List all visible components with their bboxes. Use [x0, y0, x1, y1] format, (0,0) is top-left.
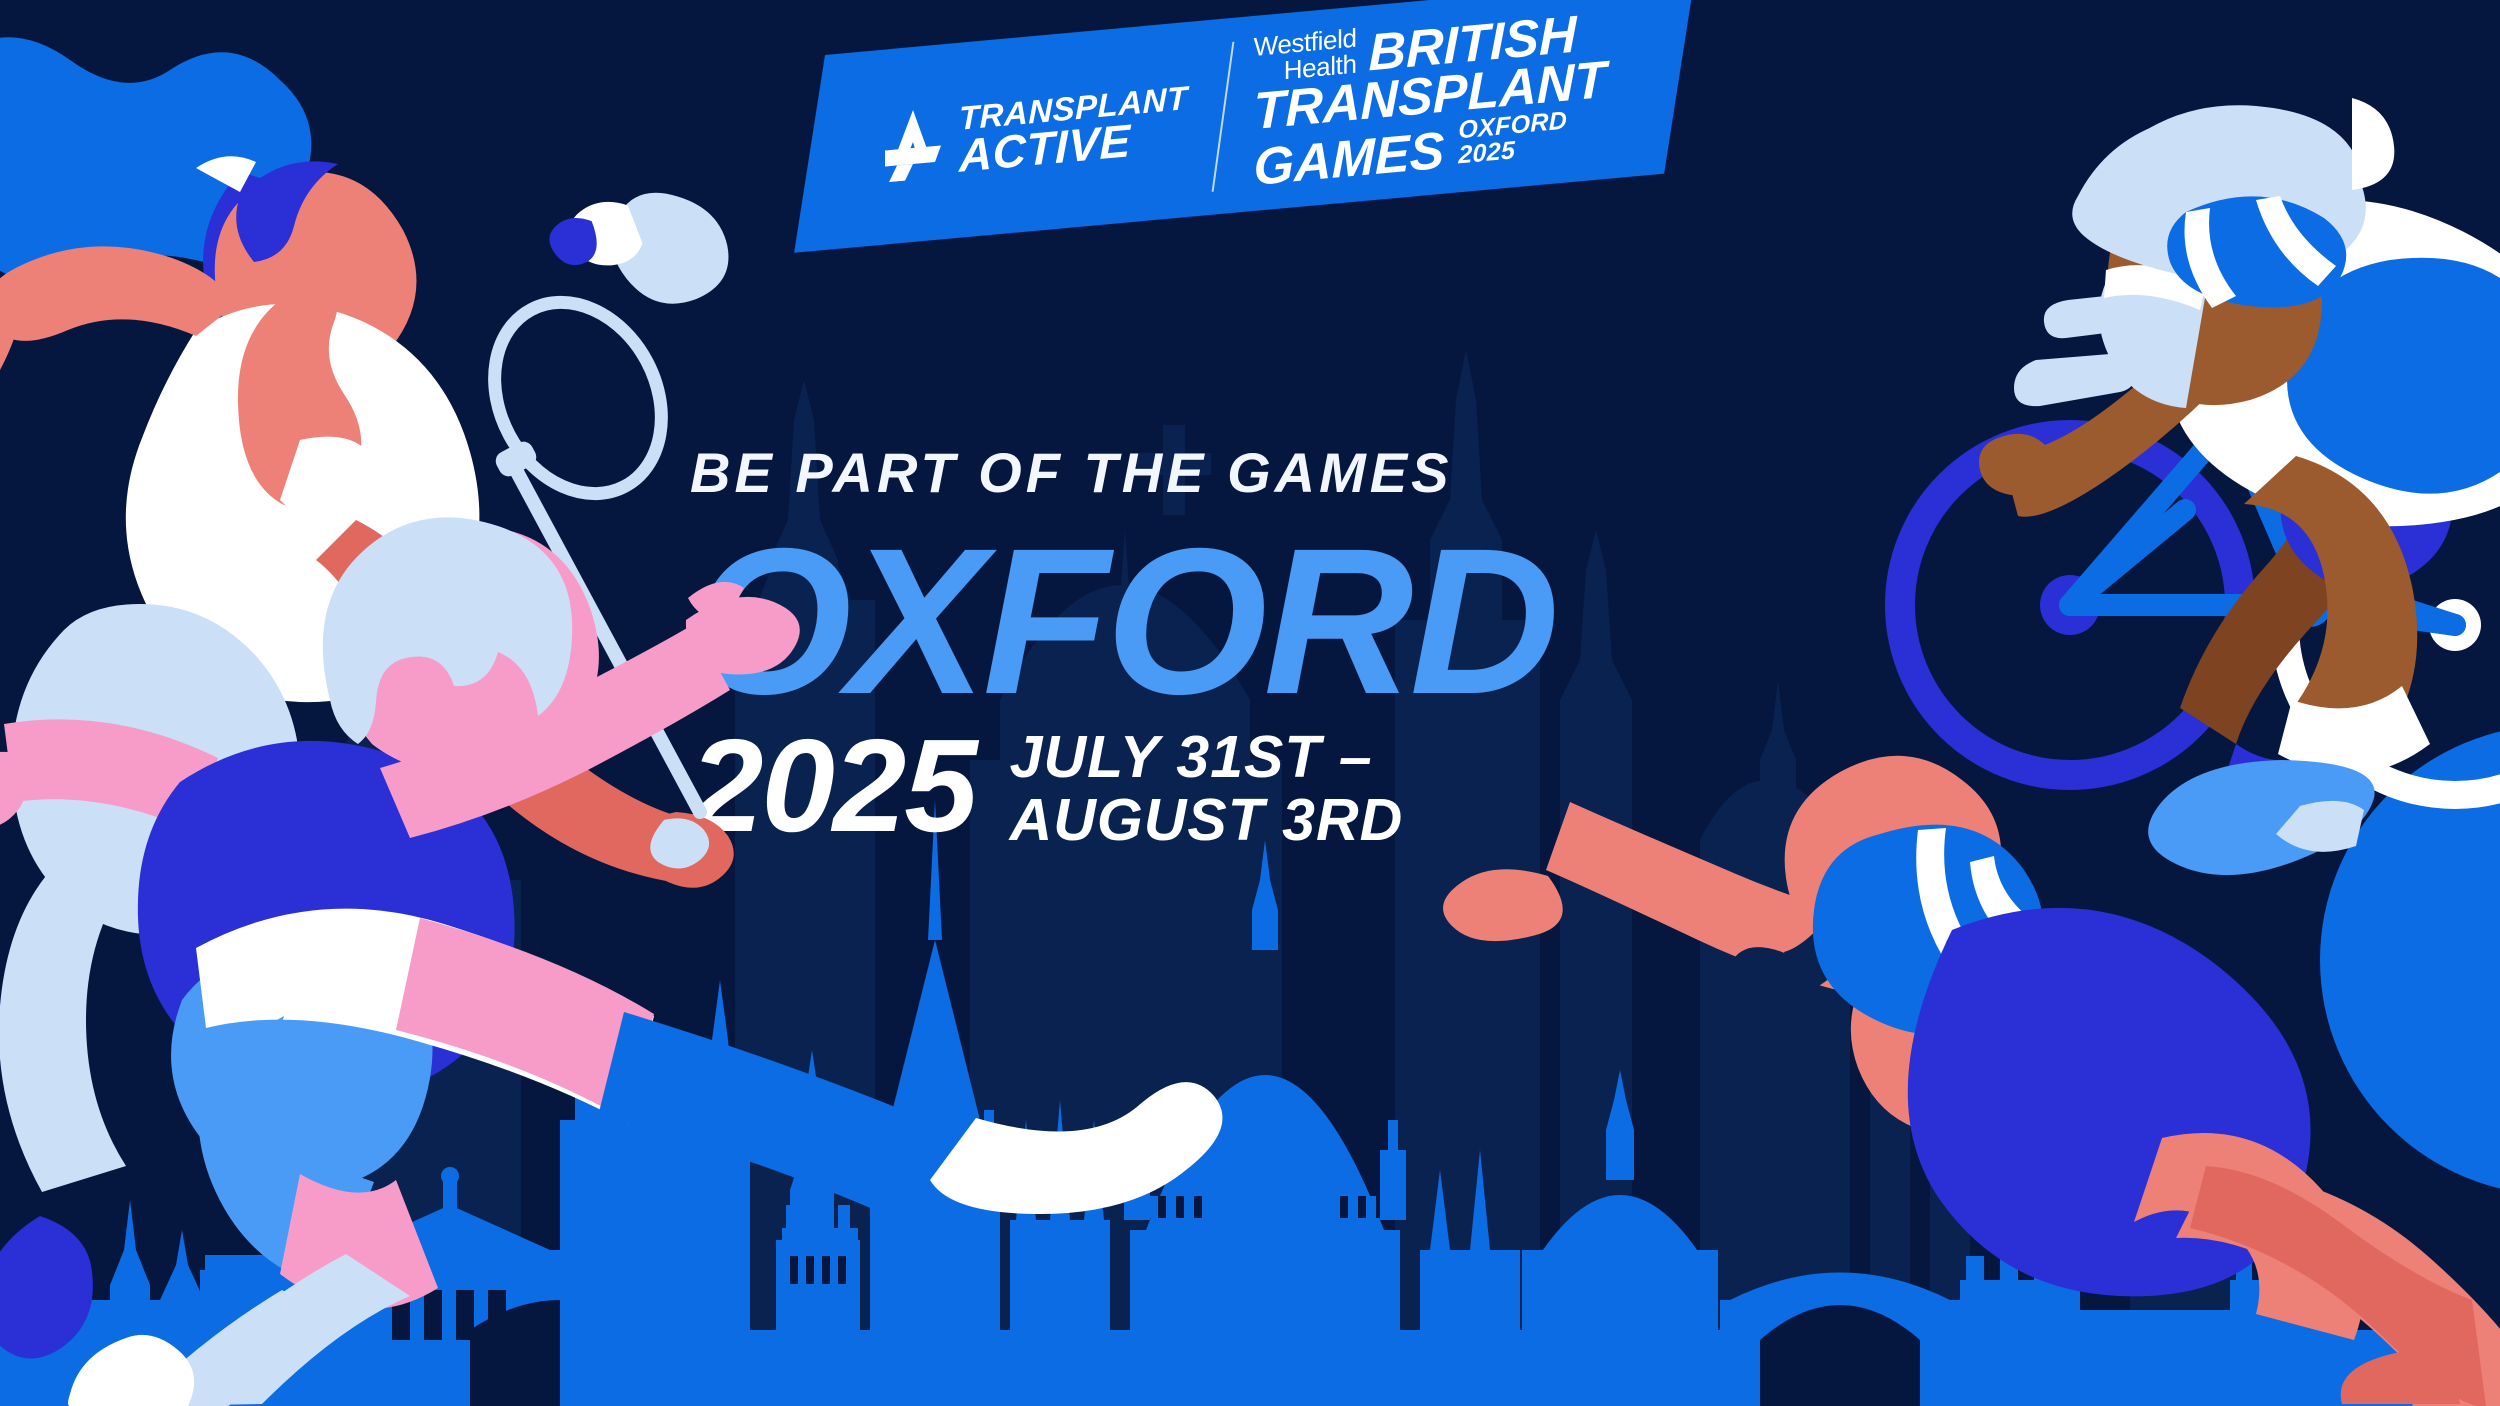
swimmer	[0, 0, 2500, 1406]
poster-canvas: TRANSPLANT ACTIVE Westfield Health BRITI…	[0, 0, 2500, 1406]
